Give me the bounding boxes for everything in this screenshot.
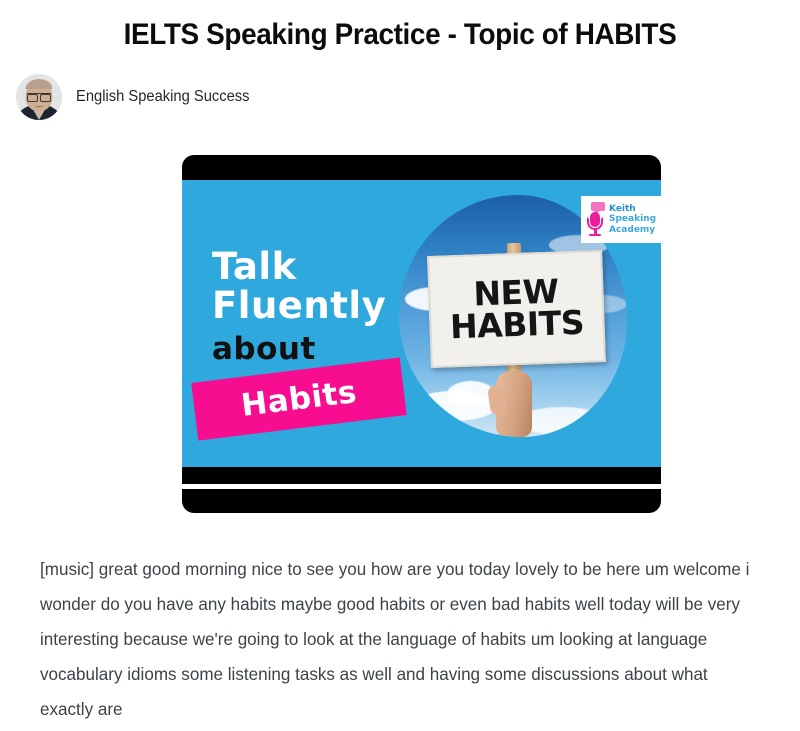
sign-line-2: HABITS — [450, 307, 585, 344]
speech-bubble-icon — [591, 202, 605, 211]
avatar[interactable] — [16, 74, 62, 120]
protest-sign: NEW HABITS — [427, 250, 606, 368]
channel-row[interactable]: English Speaking Success — [16, 74, 259, 120]
logo-wordmark: Keith Speaking Academy — [609, 204, 656, 234]
logo-line-1: Keith — [609, 204, 656, 214]
microphone-icon — [585, 201, 607, 239]
logo-line-2: Speaking — [609, 214, 656, 224]
thumbnail-headline-line3: about — [212, 334, 316, 365]
video-thumbnail[interactable]: Talk Fluently about Habits NEW HABIT — [182, 155, 661, 513]
channel-name[interactable]: English Speaking Success — [76, 88, 250, 106]
letterbox-bottom — [182, 467, 661, 484]
thumbnail-headline-line2: Fluently — [212, 287, 386, 324]
thumbnail-banner-label: Habits — [239, 374, 358, 424]
letterbox-gap — [182, 484, 661, 489]
glasses-icon — [27, 93, 51, 100]
microphone-base — [589, 234, 601, 237]
thumbnail-banner: Habits — [191, 357, 407, 440]
page-title: IELTS Speaking Practice - Topic of HABIT… — [28, 18, 772, 52]
page-root: IELTS Speaking Practice - Topic of HABIT… — [0, 0, 800, 731]
channel-logo: Keith Speaking Academy — [581, 196, 661, 243]
transcript-text: [music] great good morning nice to see y… — [40, 552, 752, 727]
logo-line-3: Academy — [609, 225, 656, 235]
thumbnail-artwork: Talk Fluently about Habits NEW HABIT — [182, 180, 661, 467]
avatar-mouth — [35, 104, 44, 107]
thumbnail-headline-line1: Talk — [212, 248, 297, 285]
